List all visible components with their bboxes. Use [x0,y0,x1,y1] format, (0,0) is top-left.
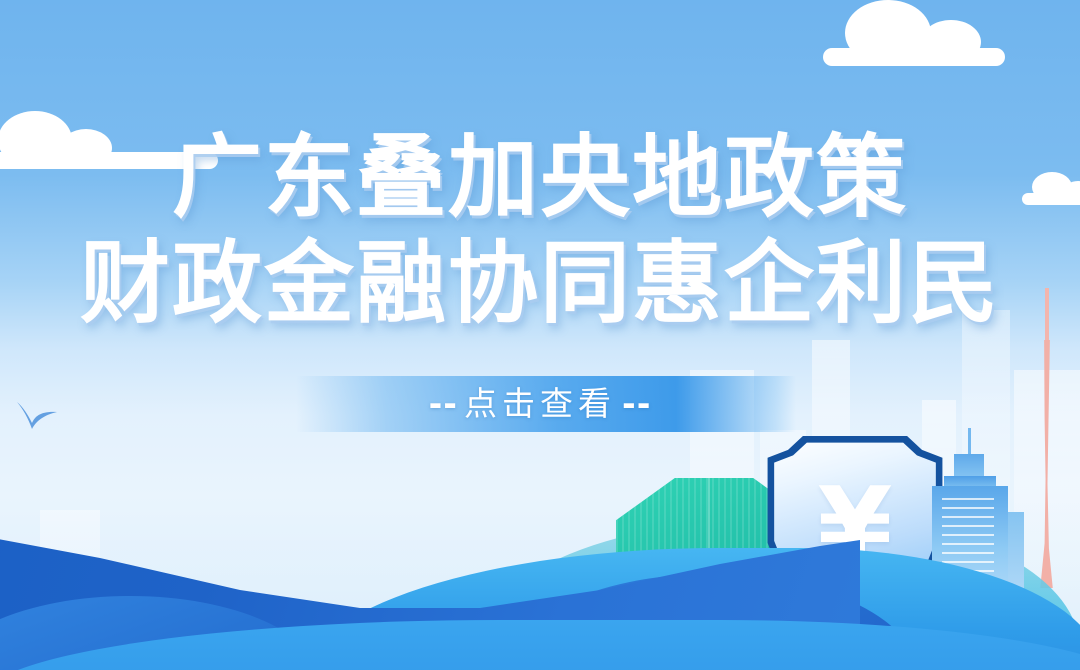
yen-symbol: ¥ [762,474,948,582]
arch-crease [708,478,710,570]
headline-line-1: 广东叠加央地政策 [0,126,1080,230]
dash-right: -- [616,384,657,423]
skyscraper-windows [942,498,994,633]
headline-line-2: 财政金融协同惠企利民 [0,230,1080,338]
cloud-icon [823,48,1005,66]
promo-banner[interactable]: ¥ 广东叠加央地政策 财政金融协同惠企利民 --点击查看-- [0,0,1080,670]
dash-left: -- [423,384,464,423]
left-blue-blob [0,596,320,670]
background-building [40,510,100,670]
cta-row: --点击查看-- [0,378,1080,430]
skyscraper-icon [928,428,1036,643]
pink-gradient-streak [0,470,480,670]
shield-icon: ¥ [762,432,948,630]
skyscraper-antenna [968,428,971,456]
cta-label: 点击查看 [464,384,616,423]
click-to-view-link[interactable]: --点击查看-- [423,384,658,423]
headline-block: 广东叠加央地政策 财政金融协同惠企利民 [0,126,1080,338]
